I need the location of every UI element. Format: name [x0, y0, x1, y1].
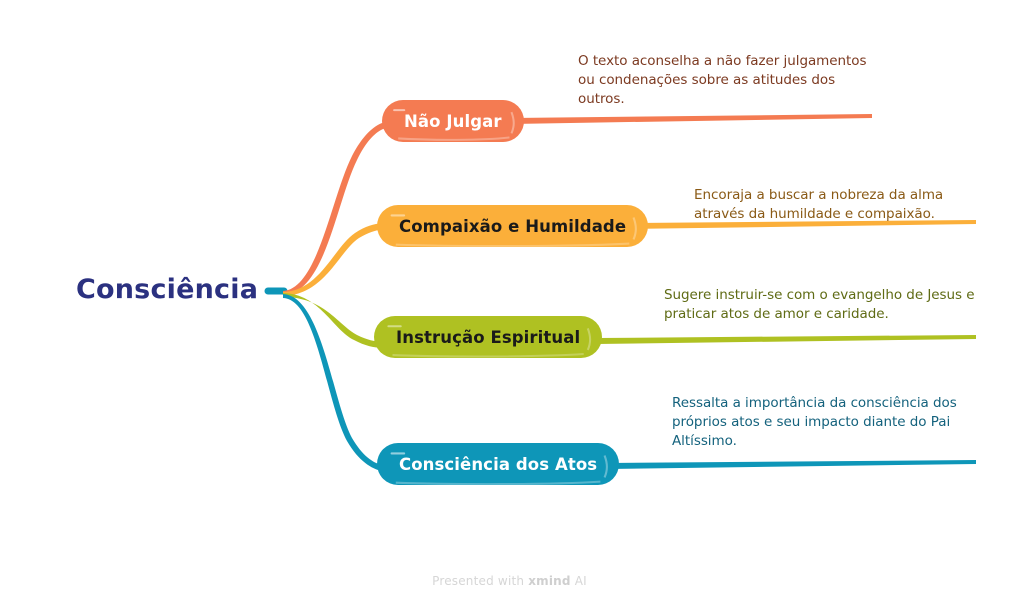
tail-branch-4 — [608, 460, 976, 469]
branch-node-label: Compaixão e Humildade — [399, 217, 626, 236]
connector-branch-3 — [283, 293, 386, 348]
branch-node-compaixao-e-humildade[interactable]: Compaixão e Humildade — [377, 205, 648, 247]
mindmap-canvas: Consciência Não Julgar Compaixão e Humil… — [0, 0, 1019, 608]
branch-note-instrucao-espiritual: Sugere instruir-se com o evangelho de Je… — [664, 286, 976, 324]
tail-branch-3 — [597, 335, 976, 344]
branch-note-nao-julgar: O texto aconselha a não fazer julgamento… — [578, 52, 878, 109]
watermark-suffix: AI — [571, 574, 587, 588]
branch-node-instrucao-espiritual[interactable]: Instrução Espiritual — [374, 316, 602, 358]
connector-branch-2 — [283, 223, 388, 296]
watermark-footer: Presented with xmind AI — [0, 574, 1019, 588]
watermark-prefix: Presented with — [432, 574, 528, 588]
branch-note-compaixao-e-humildade: Encoraja a buscar a nobreza da alma atra… — [694, 186, 984, 224]
branch-node-nao-julgar[interactable]: Não Julgar — [382, 100, 524, 142]
branch-node-consciencia-dos-atos[interactable]: Consciência dos Atos — [377, 443, 619, 485]
tail-branch-1 — [512, 114, 872, 124]
branch-node-label: Instrução Espiritual — [396, 328, 580, 347]
branch-node-label: Não Julgar — [404, 112, 502, 131]
watermark-brand: xmind — [528, 574, 571, 588]
branch-node-label: Consciência dos Atos — [399, 455, 597, 474]
root-topic[interactable]: Consciência — [76, 274, 258, 305]
connector-branch-1 — [283, 121, 392, 295]
connector-branch-4 — [283, 294, 390, 472]
branch-note-consciencia-dos-atos: Ressalta a importância da consciência do… — [672, 394, 972, 451]
